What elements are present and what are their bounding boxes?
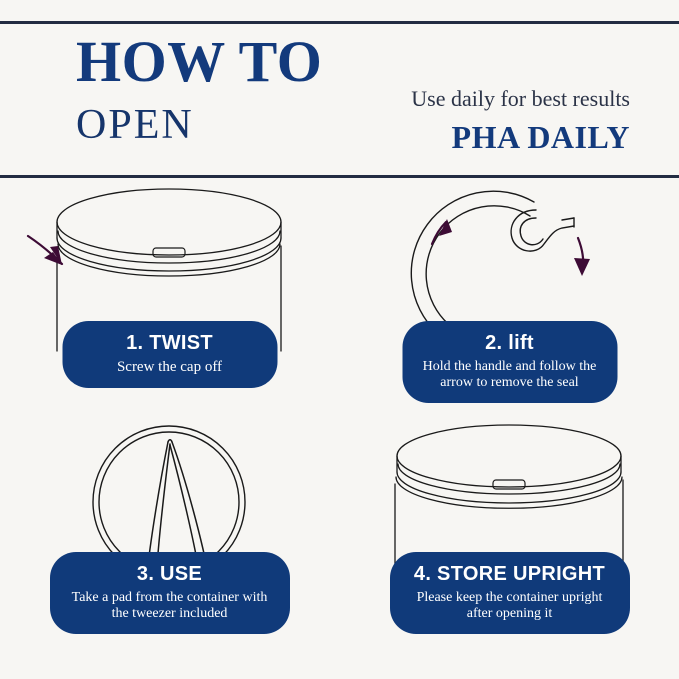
step-title-3: 3. USE bbox=[58, 562, 282, 586]
step-title-1: 1. TWIST bbox=[70, 331, 269, 355]
step-title-4: 4. STORE UPRIGHT bbox=[398, 562, 622, 586]
step-label-4: 4. STORE UPRIGHT Please keep the contain… bbox=[390, 552, 630, 634]
divider-bottom bbox=[0, 175, 679, 178]
header: HOW TO OPEN Use daily for best results P… bbox=[0, 24, 679, 175]
step-label-3: 3. USE Take a pad from the container wit… bbox=[50, 552, 290, 634]
brand-name: PHA DAILY bbox=[350, 118, 630, 156]
page-title-line1: HOW TO bbox=[76, 34, 376, 90]
step-label-1: 1. TWIST Screw the cap off bbox=[62, 321, 277, 388]
step-subtitle-1: Screw the cap off bbox=[70, 359, 269, 376]
steps-grid: 1. TWIST Screw the cap off bbox=[0, 186, 679, 656]
step-subtitle-2: Hold the handle and follow the arrow to … bbox=[410, 359, 609, 391]
step-card-2: 2. lift Hold the handle and follow the a… bbox=[340, 186, 679, 418]
how-to-open-infographic: HOW TO OPEN Use daily for best results P… bbox=[0, 0, 679, 679]
tagline: Use daily for best results bbox=[350, 86, 630, 112]
page-title-line2: OPEN bbox=[76, 100, 376, 150]
step-card-3: 3. USE Take a pad from the container wit… bbox=[0, 422, 339, 654]
step-subtitle-4: Please keep the container upright after … bbox=[398, 590, 622, 622]
step-card-4: 4. STORE UPRIGHT Please keep the contain… bbox=[340, 422, 679, 654]
header-right: Use daily for best results PHA DAILY bbox=[350, 86, 630, 156]
step-title-2: 2. lift bbox=[410, 331, 609, 355]
header-left: HOW TO OPEN bbox=[76, 34, 376, 150]
step-label-2: 2. lift Hold the handle and follow the a… bbox=[402, 321, 617, 403]
step-card-1: 1. TWIST Screw the cap off bbox=[0, 186, 339, 418]
step-subtitle-3: Take a pad from the container with the t… bbox=[58, 590, 282, 622]
